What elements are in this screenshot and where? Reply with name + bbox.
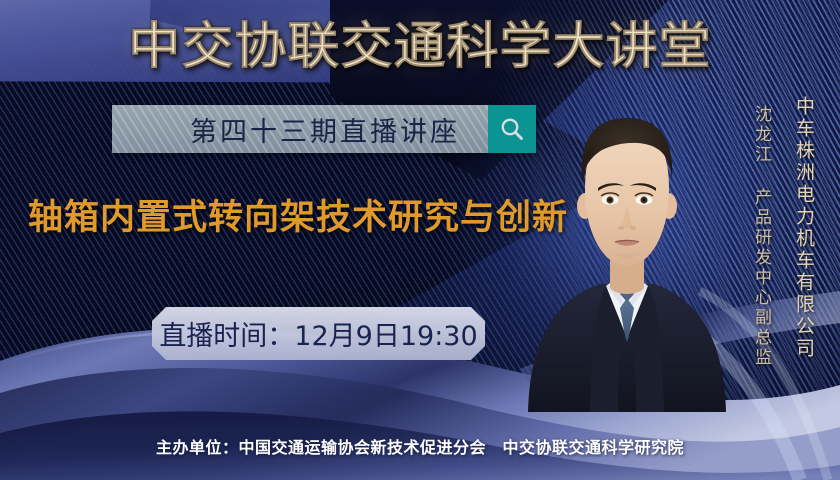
status-badge: 直播时间：12月9日19:30 xyxy=(152,307,485,360)
speaker-name-role: 沈龙江 产品研发中心副总监 xyxy=(749,105,774,368)
lecture-subtitle: 轴箱内置式转向架技术研究与创新 xyxy=(28,196,568,240)
session-search-bar[interactable]: 第四十三期直播讲座 xyxy=(112,105,536,153)
webinar-poster: 中交协联交通科学大讲堂 第四十三期直播讲座 轴箱内置式转向架技术研究与创新 直播… xyxy=(0,0,840,480)
speaker-company: 中车株洲电力机车有限公司 xyxy=(791,96,818,360)
session-label: 第四十三期直播讲座 xyxy=(140,110,460,149)
organizer-footer: 主办单位：中国交通运输协会新技术促进分会 中交协联交通科学研究院 xyxy=(0,434,840,458)
broadcast-time-text: 直播时间：12月9日19:30 xyxy=(159,314,477,353)
search-input[interactable]: 第四十三期直播讲座 xyxy=(112,105,488,153)
page-title: 中交协联交通科学大讲堂 xyxy=(0,18,840,74)
speaker-portrait xyxy=(522,90,732,412)
